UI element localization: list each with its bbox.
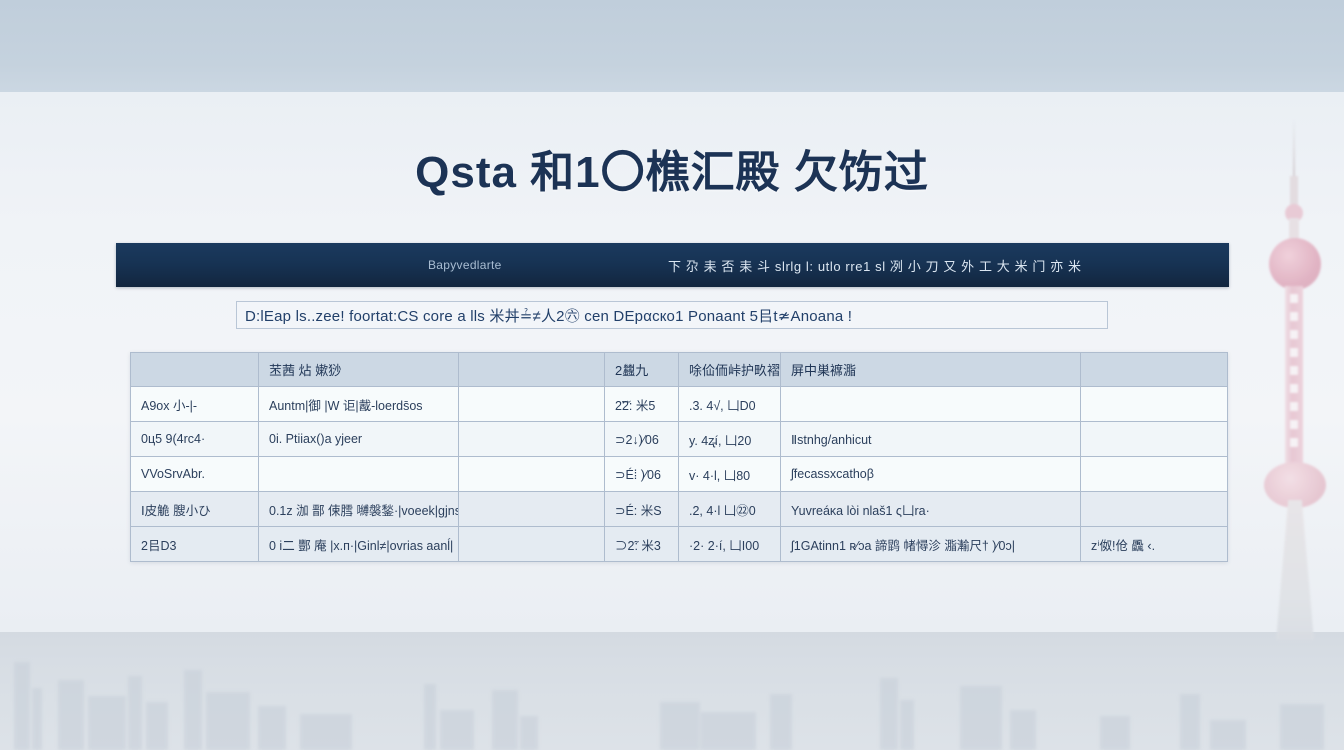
table-row[interactable]: 2㠯D3 0 i㆓ 酆 庵 |x.п·|Ginl≠|ovrias aanĺ| ⊃… xyxy=(131,527,1228,562)
table-cell: ⊃2̃: 米3 xyxy=(605,527,679,562)
table-row[interactable]: 0ц5 9(4rс4· 0i. Ptiiax()a yjeer ⊃2↓)⁄06 … xyxy=(131,422,1228,457)
table-cell: ⊃É: 米S xyxy=(605,492,679,527)
table-header: 苤茜 炶 嫰猀 2蠿九 唋佡侕峠护畂褶罻飍泖懴濻㧾 屏中巣褯㴯 xyxy=(131,353,1228,387)
subtitle-text: D:lEap ls..zee! foortat:CS core a lls 米丼… xyxy=(236,301,1108,329)
data-table: 苤茜 炶 嫰猀 2蠿九 唋佡侕峠护畂褶罻飍泖懴濻㧾 屏中巣褯㴯 A9ox 小-|… xyxy=(130,352,1228,562)
table-cell: ⊃2↓)⁄06 xyxy=(605,422,679,457)
table-cell: 0.1z 泇 鄑 㑛膤 嚩褩鍫·|voeek|gjns| xyxy=(259,492,459,527)
table-cell: 0i. Ptiiax()a yjeer xyxy=(259,422,459,457)
table-cell: ᴢⁱ伮!伧 飍 ‹. xyxy=(1081,527,1228,562)
table-cell: ʃ1GAtinn1 ʀ⁄ɔa 諦鹍 帾憳沴 㴯瀭尺† )⁄0ɔ| xyxy=(781,527,1081,562)
table-body: A9ox 小-|- Auntm|御 |W 讵|酨-loerds̄os 2̃2̆:… xyxy=(131,387,1228,562)
table-cell: y. 4ʐ̵í, 凵20 xyxy=(679,422,781,457)
column-header-5: 唋佡侕峠护畂褶罻飍泖懴濻㧾 xyxy=(679,353,781,387)
slide-content: Qsta 和1〇樵汇殿 欠饬过 Bapyvedlarte 下 尕 耒 否 耒 斗… xyxy=(0,0,1344,750)
presentation-slide: Qsta 和1〇樵汇殿 欠饬过 Bapyvedlarte 下 尕 耒 否 耒 斗… xyxy=(0,0,1344,750)
table-cell xyxy=(1081,422,1228,457)
table-row[interactable]: VVoSrvAbr. ⊃É⁞ )⁄06 v· 4·l, 凵80 ʃfecassx… xyxy=(131,457,1228,492)
table-row[interactable]: A9ox 小-|- Auntm|御 |W 讵|酨-loerds̄os 2̃2̆:… xyxy=(131,387,1228,422)
table-cell: ⊃É⁞ )⁄06 xyxy=(605,457,679,492)
table-cell: ʃfecassxcathoβ xyxy=(781,457,1081,492)
table-cell: 0ц5 9(4rс4· xyxy=(131,422,259,457)
table-header-row: 苤茜 炶 嫰猀 2蠿九 唋佡侕峠护畂褶罻飍泖懴濻㧾 屏中巣褯㴯 xyxy=(131,353,1228,387)
table-cell: 0 i㆓ 酆 庵 |x.п·|Ginl≠|ovrias aanĺ| xyxy=(259,527,459,562)
table-cell: v· 4·l, 凵80 xyxy=(679,457,781,492)
column-header-2: 苤茜 炶 嫰猀 xyxy=(259,353,459,387)
table-cell: .3. 4√, 凵D0 xyxy=(679,387,781,422)
table-cell xyxy=(459,422,605,457)
table-cell xyxy=(259,457,459,492)
table-cell: .2, 4·l 凵㉒0 xyxy=(679,492,781,527)
column-header-4: 2蠿九 xyxy=(605,353,679,387)
table-row[interactable]: Ⅰ皮觤 膄小ひ 0.1z 泇 鄑 㑛膤 嚩褩鍫·|voeek|gjns| ⊃É:… xyxy=(131,492,1228,527)
table-cell: Ⅰ皮觤 膄小ひ xyxy=(131,492,259,527)
table-cell: Yuvreáκa lòi nlaš1 ς凵ra· xyxy=(781,492,1081,527)
page-title: Qsta 和1〇樵汇殿 欠饬过 xyxy=(172,136,1172,200)
table-cell: 2̃2̆: 米5 xyxy=(605,387,679,422)
table-cell: ·2· 2·í, 凵I00 xyxy=(679,527,781,562)
table-cell xyxy=(781,387,1081,422)
header-bar-text: 下 尕 耒 否 耒 斗 slrlg l: utlo rre1 sl 冽 小 刀 … xyxy=(668,256,1082,275)
column-header-7 xyxy=(1081,353,1228,387)
table-cell xyxy=(1081,457,1228,492)
table-cell xyxy=(459,492,605,527)
header-bar-label: Bapyvedlarte xyxy=(428,258,502,272)
table-cell xyxy=(459,387,605,422)
table-cell xyxy=(1081,387,1228,422)
table-cell xyxy=(459,457,605,492)
column-header-1 xyxy=(131,353,259,387)
table-cell: 2㠯D3 xyxy=(131,527,259,562)
table-cell xyxy=(1081,492,1228,527)
section-header-bar: Bapyvedlarte 下 尕 耒 否 耒 斗 slrlg l: utlo r… xyxy=(116,243,1229,287)
column-header-3 xyxy=(459,353,605,387)
table-cell: VVoSrvAbr. xyxy=(131,457,259,492)
table-cell: Ⅱstnhg/anhicut xyxy=(781,422,1081,457)
column-header-6: 屏中巣褯㴯 xyxy=(781,353,1081,387)
table-cell: Auntm|御 |W 讵|酨-loerds̄os xyxy=(259,387,459,422)
table-cell: A9ox 小-|- xyxy=(131,387,259,422)
table-cell xyxy=(459,527,605,562)
